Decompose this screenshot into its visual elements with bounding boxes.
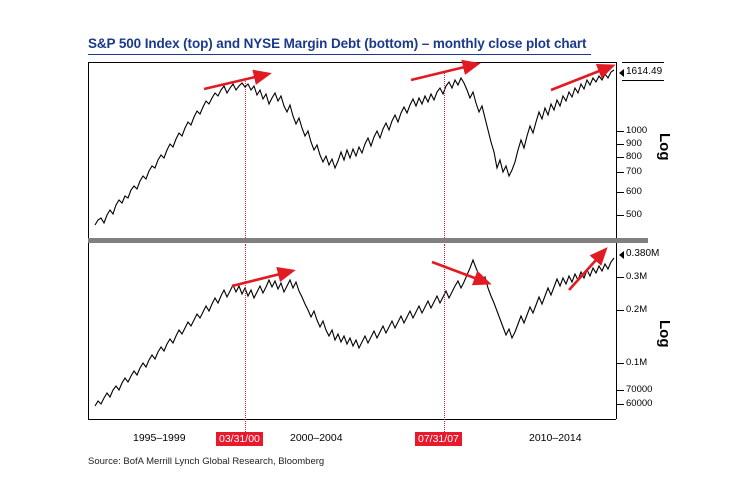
xlabel-1995-1999: 1995–1999 <box>133 432 186 444</box>
bottom-axis-log-label: Log <box>656 320 673 348</box>
ytick-mark <box>617 390 624 391</box>
ytick-mark <box>617 310 624 311</box>
ytick-label-70000: 70000 <box>626 384 652 395</box>
marker-line-2000-top <box>245 78 247 238</box>
xlabel-2010-2014: 2010–2014 <box>529 432 582 444</box>
marker-line-2007-top <box>444 72 446 238</box>
xlabel-highlight-2000: 03/31/00 <box>216 432 263 446</box>
xlabel-2000-2004: 2000–2004 <box>290 432 343 444</box>
marker-line-2007-bottom <box>444 244 446 440</box>
ytick-mark <box>617 404 624 405</box>
ytick-label-60000: 60000 <box>626 398 652 409</box>
bottom-last-value-arrow-icon <box>619 251 624 259</box>
source-note: Source: BofA Merrill Lynch Global Resear… <box>88 456 324 467</box>
xlabel-highlight-2007: 07/31/07 <box>415 432 462 446</box>
chart-page: S&P 500 Index (top) and NYSE Margin Debt… <box>0 0 749 499</box>
ytick-mark <box>617 277 624 278</box>
marker-line-2000-bottom <box>245 244 247 440</box>
bottom-last-value-label: 0.380M <box>625 248 660 259</box>
ytick-mark <box>617 363 624 364</box>
ytick-label-0-2m: 0.2M <box>626 304 647 315</box>
ytick-label-0-3m: 0.3M <box>626 271 647 282</box>
ytick-label-0-1m: 0.1M <box>626 357 647 368</box>
